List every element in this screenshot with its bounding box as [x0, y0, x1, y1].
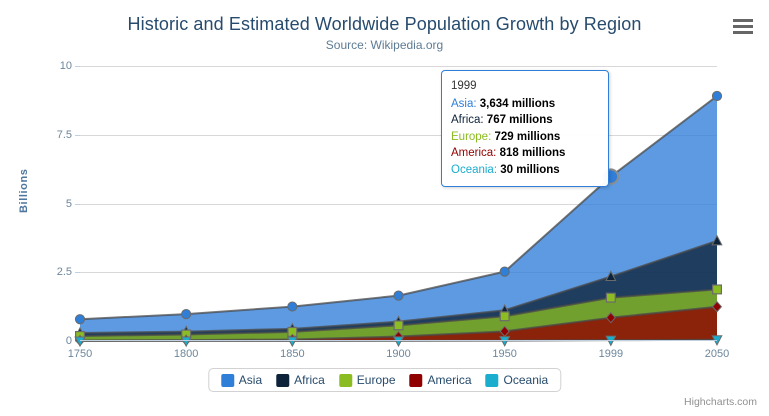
chart-subtitle: Source: Wikipedia.org: [0, 38, 769, 52]
legend-item-africa[interactable]: Africa: [276, 373, 325, 387]
highcharts-container: Historic and Estimated Worldwide Populat…: [0, 0, 769, 416]
legend-color-swatch: [410, 374, 423, 387]
data-point-marker[interactable]: [500, 267, 509, 276]
chart-title: Historic and Estimated Worldwide Populat…: [0, 14, 769, 35]
tooltip-series-value: 3,634 millions: [480, 98, 555, 110]
credits-link[interactable]: Highcharts.com: [684, 396, 757, 408]
x-axis-line: [80, 340, 717, 341]
plot-area: 02.557.510 1750180018501900195019992050: [80, 66, 717, 341]
legend-color-swatch: [486, 374, 499, 387]
tooltip-row: Oceania: 30 millions: [451, 162, 599, 179]
legend-item-asia[interactable]: Asia: [221, 373, 262, 387]
data-point-marker[interactable]: [606, 293, 615, 302]
menu-bar-1: [733, 19, 753, 22]
y-axis-tick-label: 7.5: [57, 129, 72, 141]
tooltip-row: Europe: 729 millions: [451, 129, 599, 146]
tooltip-rows: Asia: 3,634 millionsAfrica: 767 millions…: [451, 96, 599, 179]
x-axis-tick-label: 1750: [68, 348, 92, 360]
x-axis-tick-label: 1800: [174, 348, 198, 360]
menu-bar-2: [733, 25, 753, 28]
legend-item-label: Europe: [357, 373, 396, 387]
tooltip-series-name: America:: [451, 147, 500, 159]
tooltip-series-value: 729 millions: [494, 131, 560, 143]
y-axis-tick-label: 0: [66, 335, 72, 347]
legend-item-label: Oceania: [504, 373, 549, 387]
x-axis-tick-label: 1900: [386, 348, 410, 360]
legend-item-america[interactable]: America: [410, 373, 472, 387]
tooltip-row: Africa: 767 millions: [451, 112, 599, 129]
legend-color-swatch: [276, 374, 289, 387]
legend-item-label: Asia: [239, 373, 262, 387]
y-axis-title: Billions: [18, 168, 30, 213]
y-axis-tick-label: 2.5: [57, 266, 72, 278]
data-point-marker[interactable]: [182, 310, 191, 319]
y-axis-tick-label: 10: [60, 60, 72, 72]
data-point-marker[interactable]: [394, 291, 403, 300]
legend-item-europe[interactable]: Europe: [339, 373, 396, 387]
data-point-marker[interactable]: [500, 312, 509, 321]
y-axis-tick-label: 5: [66, 198, 72, 210]
x-axis-tick-label: 1999: [599, 348, 623, 360]
tooltip-row: Asia: 3,634 millions: [451, 96, 599, 113]
legend-color-swatch: [339, 374, 352, 387]
chart-legend: AsiaAfricaEuropeAmericaOceania: [208, 368, 561, 392]
data-point-marker[interactable]: [394, 321, 403, 330]
legend-items: AsiaAfricaEuropeAmericaOceania: [221, 373, 548, 387]
x-axis-tick-label: 1850: [280, 348, 304, 360]
tooltip-series-name: Europe:: [451, 131, 494, 143]
menu-bar-3: [733, 31, 753, 34]
tooltip-series-value: 30 millions: [500, 164, 559, 176]
legend-item-oceania[interactable]: Oceania: [486, 373, 549, 387]
tooltip-series-value: 818 millions: [500, 147, 566, 159]
tooltip-series-name: Oceania:: [451, 164, 500, 176]
tooltip-header: 1999: [451, 78, 599, 95]
tooltip-series-value: 767 millions: [487, 114, 553, 126]
legend-color-swatch: [221, 374, 234, 387]
tooltip: 1999 Asia: 3,634 millionsAfrica: 767 mil…: [441, 70, 609, 187]
hamburger-menu-icon[interactable]: [731, 16, 755, 38]
data-point-marker[interactable]: [75, 315, 84, 324]
tooltip-series-name: Asia:: [451, 98, 480, 110]
tooltip-row: America: 818 millions: [451, 145, 599, 162]
x-axis-tick-label: 1950: [492, 348, 516, 360]
data-point-marker[interactable]: [713, 285, 722, 294]
tooltip-series-name: Africa:: [451, 114, 487, 126]
series-areas: [80, 66, 717, 341]
legend-item-label: America: [428, 373, 472, 387]
data-point-marker[interactable]: [712, 91, 721, 100]
legend-item-label: Africa: [294, 373, 325, 387]
data-point-marker[interactable]: [288, 302, 297, 311]
x-axis-tick-label: 2050: [705, 348, 729, 360]
